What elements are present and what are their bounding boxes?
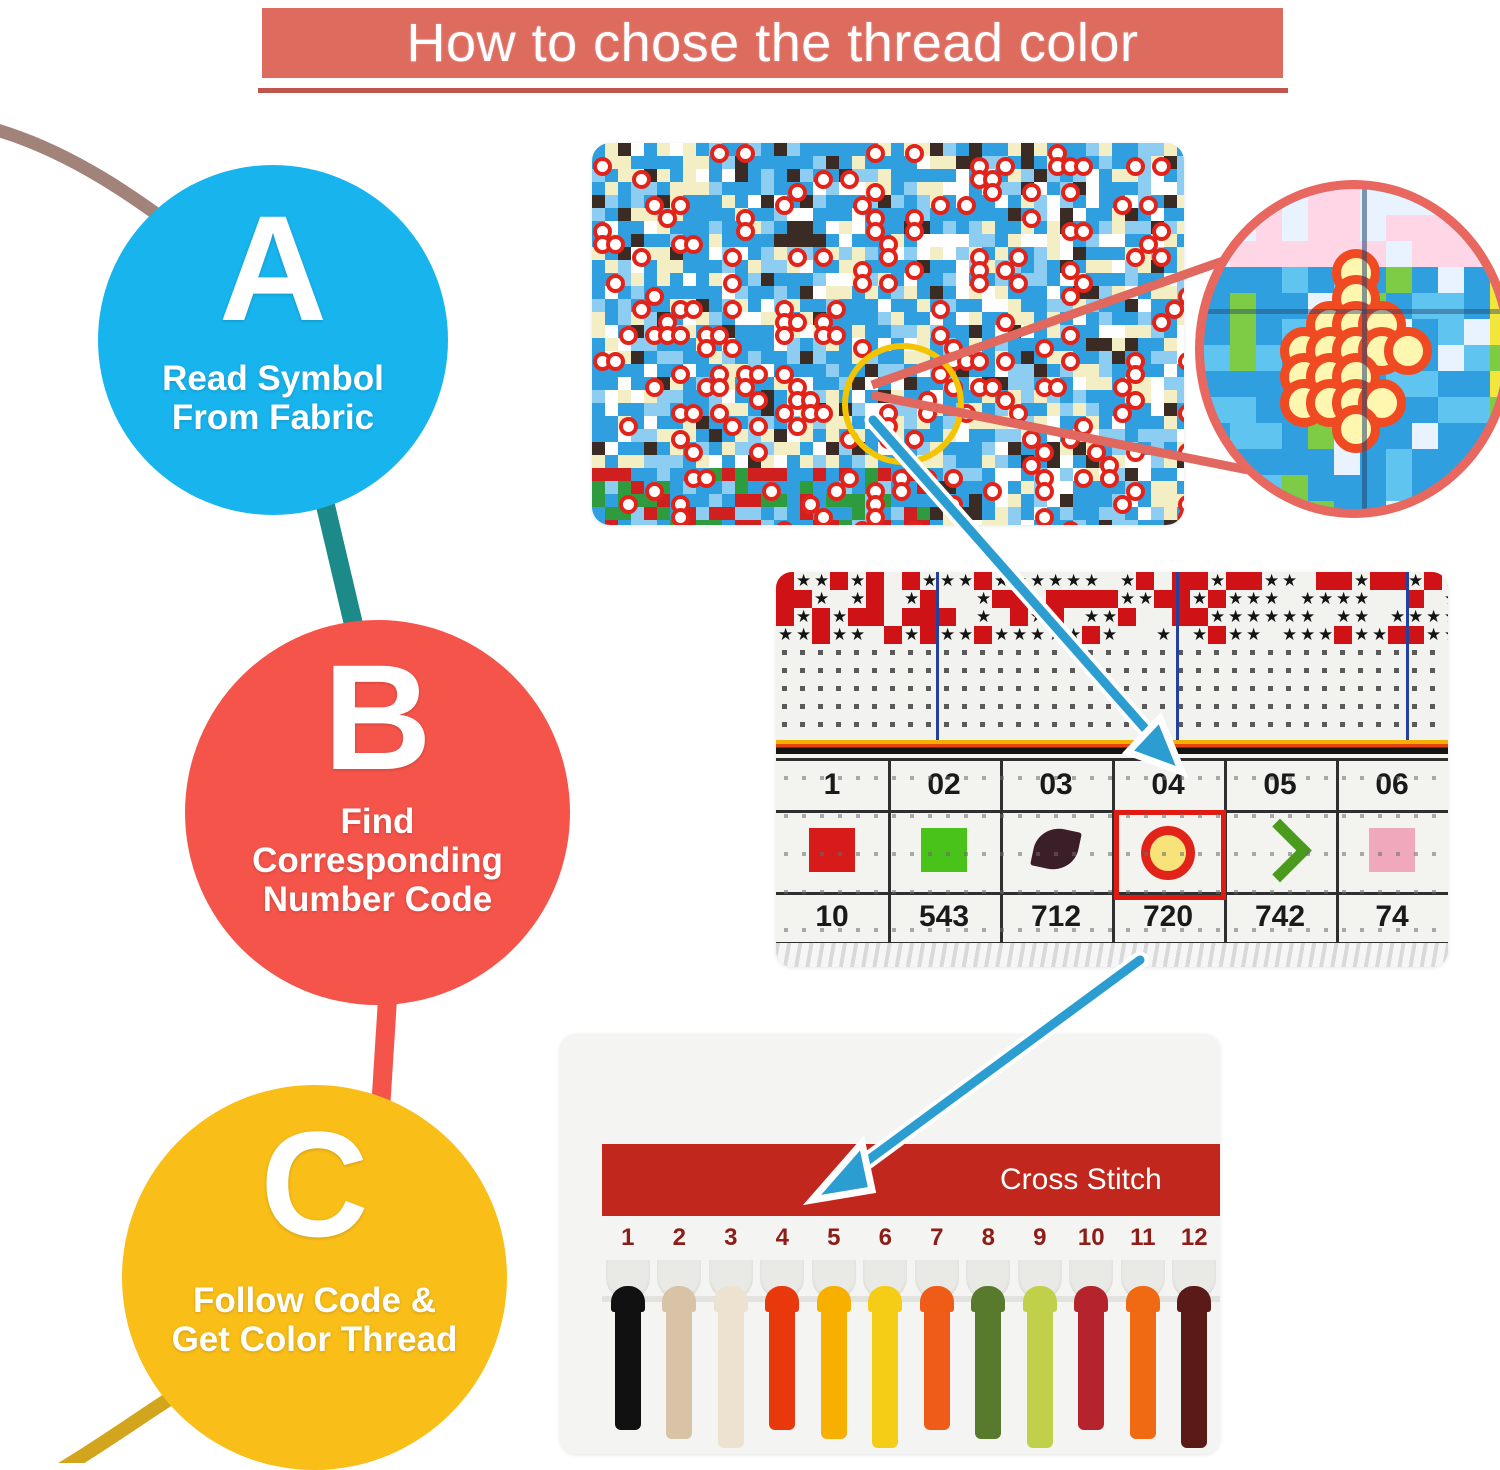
chart-stitched-pattern: ★★★★★★★★★★★★★★★★★★★★★★★★★★★★★★★★★★★★★★★★… <box>776 572 1448 740</box>
thread-skein <box>611 1286 645 1430</box>
magnifier-circle <box>1195 180 1500 518</box>
chart-spiral-binding <box>776 943 1448 967</box>
thread-number: 8 <box>982 1224 995 1252</box>
thread-number: 6 <box>879 1224 892 1252</box>
thread-number-row: 123456789101112 <box>602 1224 1220 1258</box>
thread-sample-card: Cross Stitch 123456789101112 <box>560 1034 1220 1454</box>
chart-symbol-table: 110025430371204720057420674 <box>776 758 1448 944</box>
chart-color-stripe <box>776 740 1448 754</box>
thread-number: 7 <box>930 1224 943 1252</box>
symbol-number-chart: ★★★★★★★★★★★★★★★★★★★★★★★★★★★★★★★★★★★★★★★★… <box>776 572 1448 967</box>
thread-skein <box>714 1286 748 1448</box>
thread-number: 11 <box>1130 1224 1155 1252</box>
thread-skein <box>817 1286 851 1439</box>
thread-number: 12 <box>1181 1224 1208 1252</box>
thread-number: 9 <box>1033 1224 1046 1252</box>
selected-symbol-highlight <box>1114 810 1226 900</box>
thread-card-banner: Cross Stitch <box>602 1144 1220 1216</box>
thread-number: 10 <box>1078 1224 1105 1252</box>
thread-skein <box>868 1286 902 1448</box>
thread-number: 5 <box>827 1224 840 1252</box>
thread-number: 3 <box>724 1224 737 1252</box>
thread-number: 1 <box>621 1224 634 1252</box>
callout-upper-line <box>872 255 1240 385</box>
thread-number: 2 <box>673 1224 686 1252</box>
thread-skein <box>662 1286 696 1439</box>
thread-skein <box>971 1286 1005 1439</box>
thread-number: 4 <box>776 1224 789 1252</box>
callout-lower-line <box>872 395 1248 470</box>
thread-skein <box>1126 1286 1160 1439</box>
thread-skein <box>920 1286 954 1430</box>
thread-skein <box>1023 1286 1057 1448</box>
thread-card-banner-label: Cross Stitch <box>1000 1163 1162 1197</box>
thread-skein <box>1074 1286 1108 1430</box>
thread-skein <box>1177 1286 1211 1448</box>
thread-skein <box>765 1286 799 1430</box>
